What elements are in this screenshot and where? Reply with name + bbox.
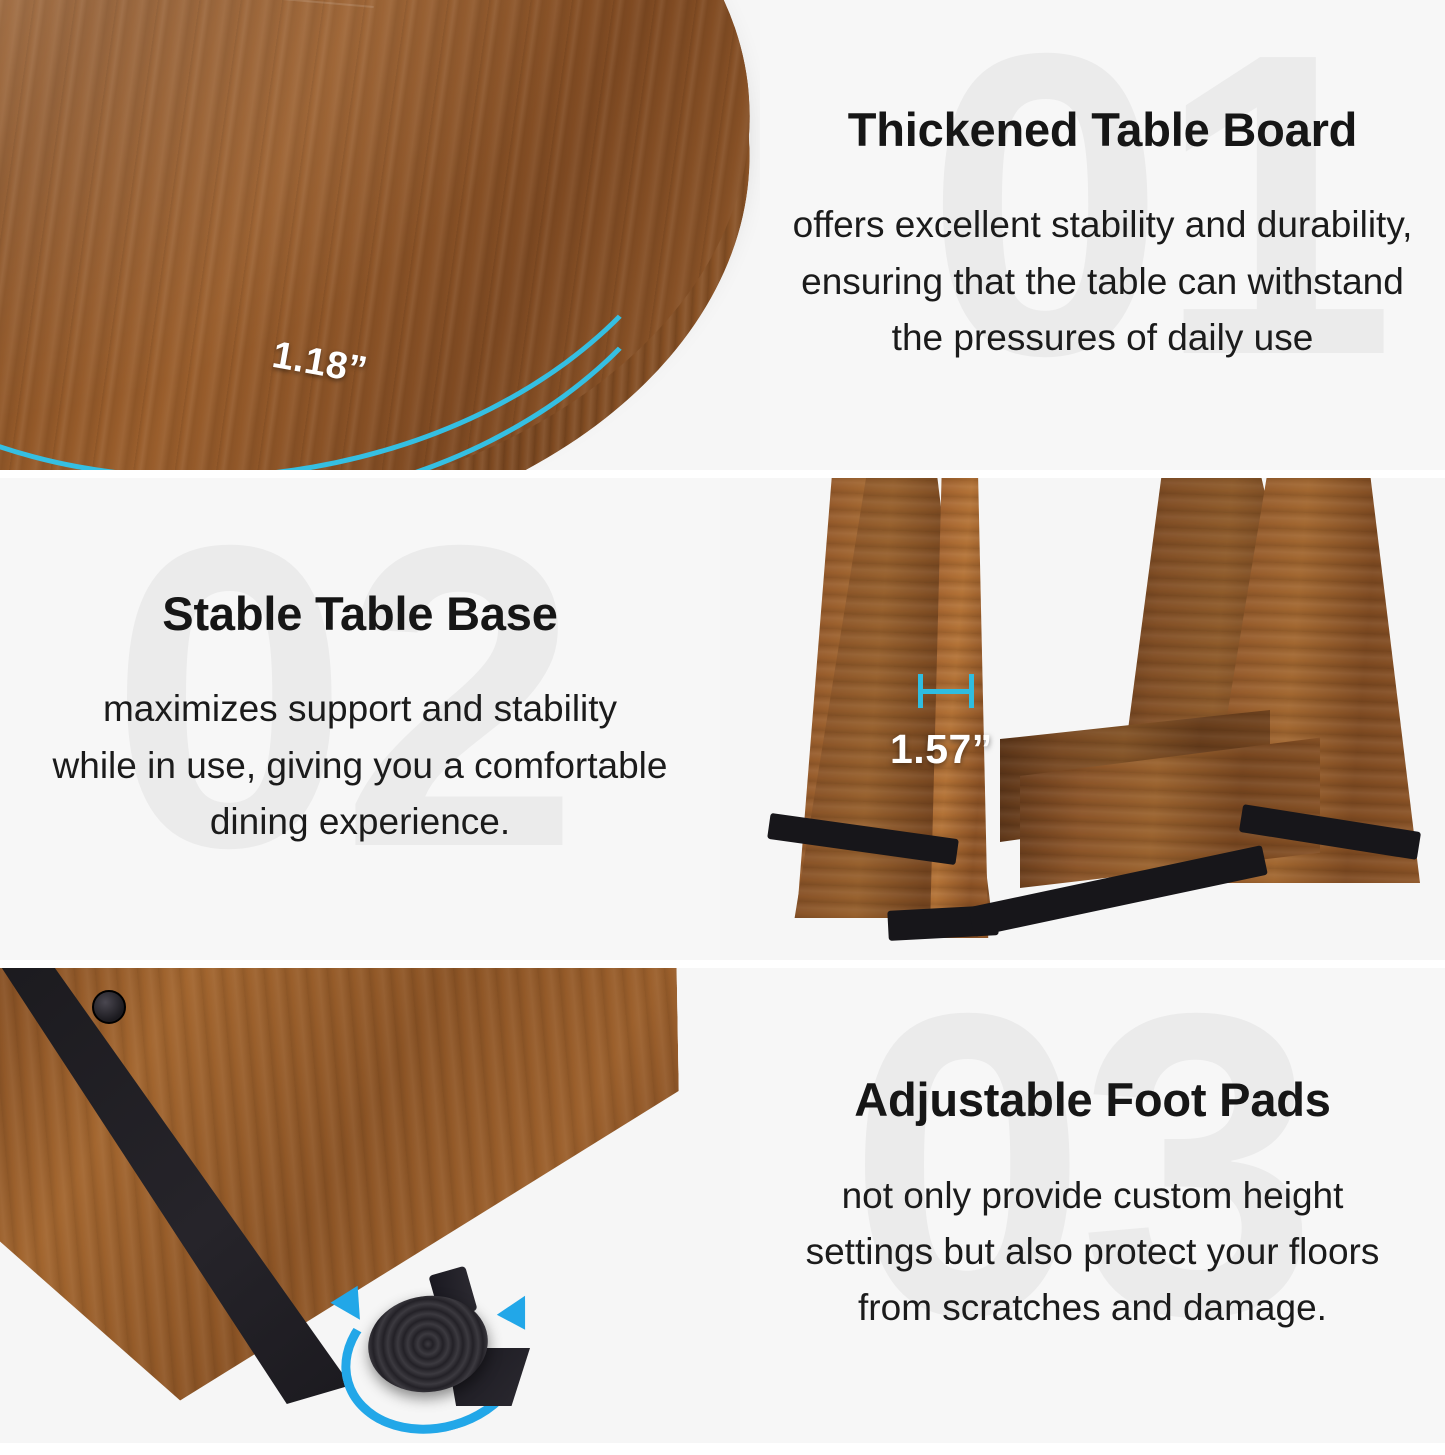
screw-icon — [92, 990, 126, 1024]
feature-02-body-line: maximizes support and stability — [53, 681, 668, 737]
feature-02-body-line: dining experience. — [53, 794, 668, 850]
feature-panel-01: 1.18” 01 Thickened Table Board offers ex… — [0, 0, 1445, 470]
feature-01-media: 1.18” — [0, 0, 760, 470]
feature-02-body: maximizes support and stability while in… — [53, 681, 668, 850]
panel-divider — [0, 960, 1445, 968]
thickness-arc-lower-icon — [0, 0, 754, 470]
feature-02-media: 1.57” — [720, 478, 1445, 960]
feature-02-copy: 02 Stable Table Base maximizes support a… — [0, 478, 720, 960]
feature-03-copy: 03 Adjustable Foot Pads not only provide… — [740, 968, 1445, 1443]
feature-01-copy: 01 Thickened Table Board offers excellen… — [760, 0, 1445, 470]
feature-02-body-line: while in use, giving you a comfortable — [53, 738, 668, 794]
feature-panel-03: 03 Adjustable Foot Pads not only provide… — [0, 968, 1445, 1443]
feature-03-body-line: from scratches and damage. — [806, 1280, 1380, 1336]
feature-03-body: not only provide custom height settings … — [806, 1168, 1380, 1337]
feature-03-title: Adjustable Foot Pads — [806, 1074, 1380, 1126]
feature-01-body-line: offers excellent stability and durabilit… — [793, 197, 1413, 253]
feature-01-body-line: the pressures of daily use — [793, 310, 1413, 366]
feature-02-title: Stable Table Base — [53, 588, 668, 640]
feature-01-title: Thickened Table Board — [793, 104, 1413, 156]
width-dimension-label: 1.57” — [890, 726, 993, 773]
feature-panel-02: 02 Stable Table Base maximizes support a… — [0, 478, 1445, 960]
table-base-underside — [0, 968, 684, 1404]
panel-divider — [0, 470, 1445, 478]
feature-01-body: offers excellent stability and durabilit… — [793, 197, 1413, 366]
width-dimension-marker-icon — [918, 674, 974, 708]
feature-03-body-line: settings but also protect your floors — [806, 1224, 1380, 1280]
feature-03-body-line: not only provide custom height — [806, 1168, 1380, 1224]
product-feature-infographic: 1.18” 01 Thickened Table Board offers ex… — [0, 0, 1445, 1445]
feature-01-body-line: ensuring that the table can withstand — [793, 254, 1413, 310]
